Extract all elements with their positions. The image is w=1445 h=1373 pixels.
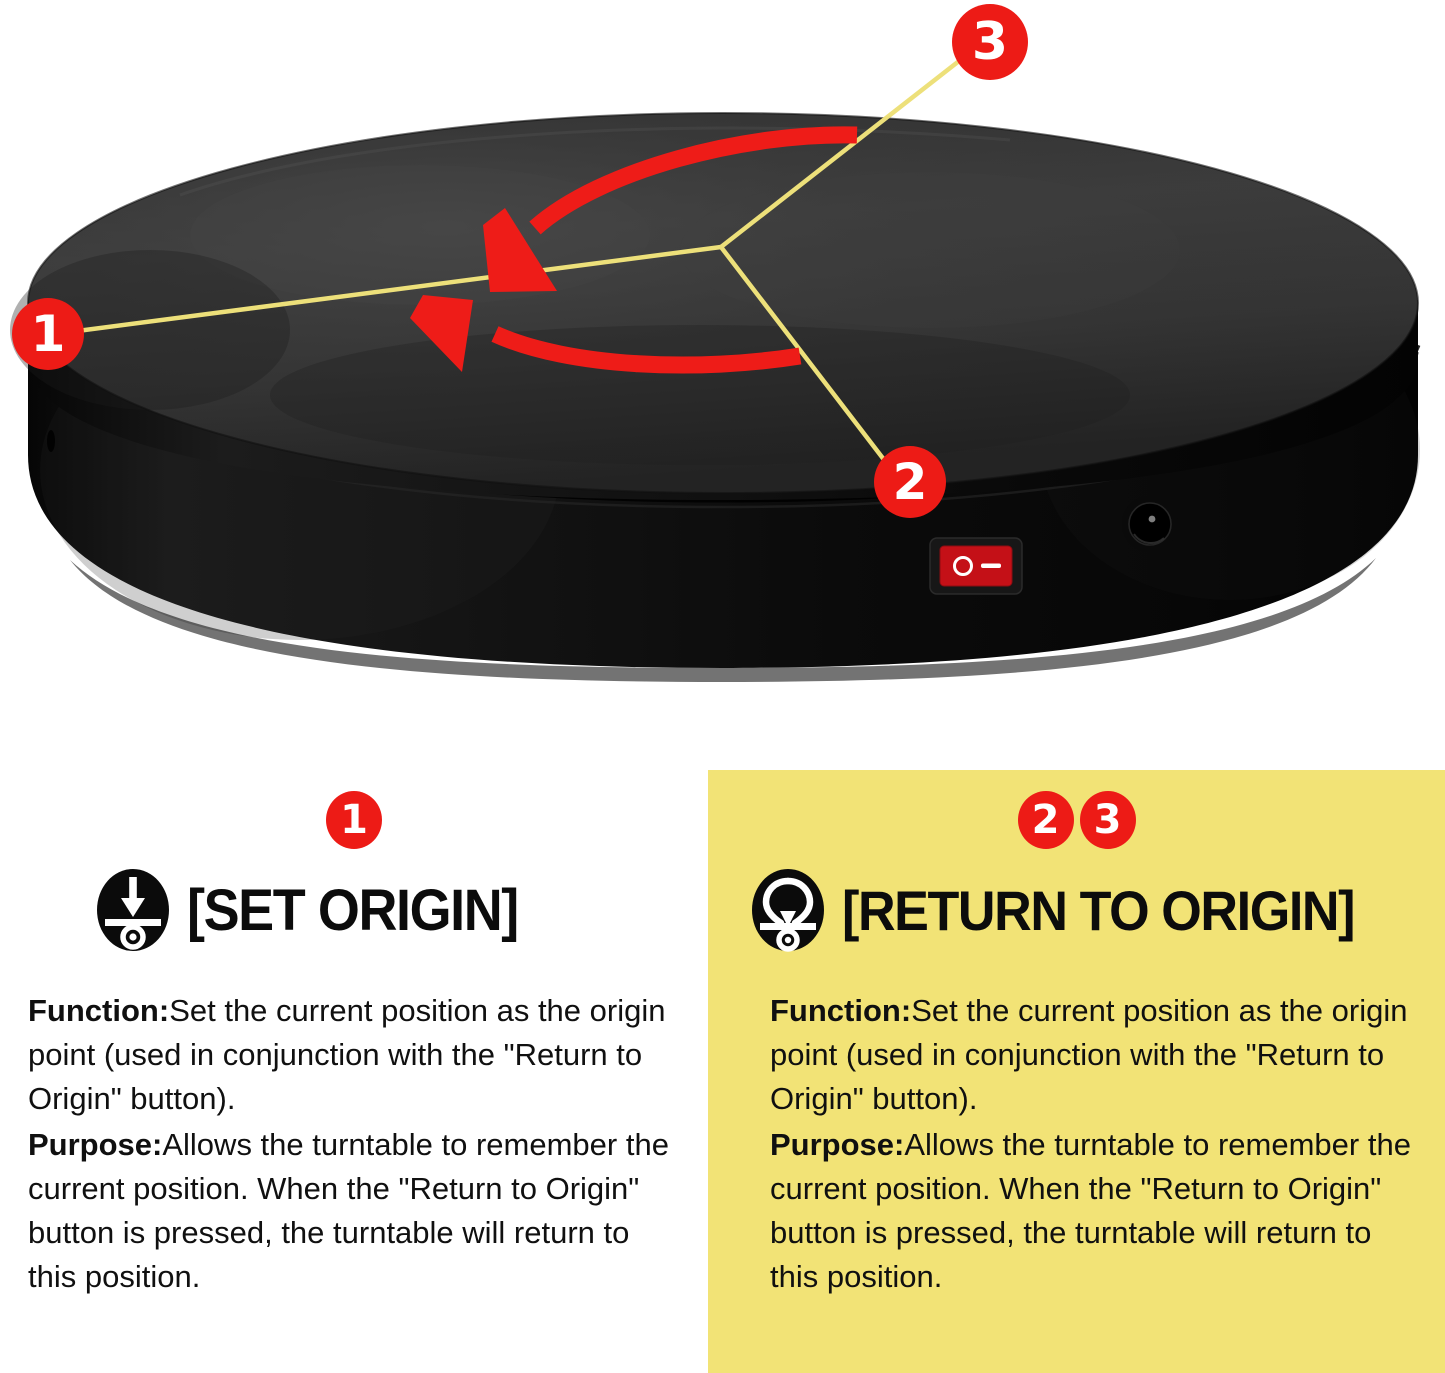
dc-power-jack (1122, 496, 1178, 552)
panel-set-origin: 1 [SET ORIGIN] Function:Set the current … (0, 760, 708, 1373)
left-panel-heading: [SET ORIGIN] (187, 877, 518, 944)
right-panel-badge-3: 3 (1080, 791, 1136, 849)
photo-callout-1[interactable]: 1 (12, 298, 84, 370)
right-panel-function-label: Function: (770, 993, 911, 1028)
left-panel-heading-row: [SET ORIGIN] (0, 867, 708, 953)
left-panel-body: Function:Set the current position as the… (0, 989, 708, 1299)
right-panel-body: Function:Set the current position as the… (708, 989, 1445, 1299)
right-panel-badge-row: 2 3 (708, 770, 1445, 849)
feature-panels: 1 [SET ORIGIN] Function:Set the current … (0, 760, 1445, 1373)
product-photo-area: 1 2 3 (0, 0, 1445, 760)
left-panel-badge-row: 1 (0, 760, 708, 849)
left-panel-purpose-para: Purpose:Allows the turntable to remember… (28, 1123, 670, 1299)
photo-callout-2[interactable]: 2 (874, 446, 946, 518)
vent-hole (47, 430, 55, 452)
right-panel-purpose-label: Purpose: (770, 1127, 904, 1162)
set-origin-icon (95, 867, 171, 953)
right-panel-function-para: Function:Set the current position as the… (770, 989, 1415, 1121)
turntable-illustration (0, 0, 1445, 760)
left-panel-function-label: Function: (28, 993, 169, 1028)
power-switch (930, 538, 1022, 594)
right-panel-badge-2: 2 (1018, 791, 1074, 849)
right-panel-heading-row: [RETURN TO ORIGIN] (708, 867, 1445, 953)
right-panel-heading: [RETURN TO ORIGIN] (842, 878, 1354, 943)
right-panel-purpose-para: Purpose:Allows the turntable to remember… (770, 1123, 1415, 1299)
left-panel-purpose-label: Purpose: (28, 1127, 162, 1162)
left-panel-function-para: Function:Set the current position as the… (28, 989, 670, 1121)
left-panel-badge-1: 1 (326, 791, 382, 849)
panel-return-to-origin: 2 3 [RETURN TO ORIGIN] Function:Set the … (708, 770, 1445, 1373)
photo-callout-3[interactable]: 3 (952, 4, 1028, 80)
return-to-origin-icon (750, 867, 826, 953)
